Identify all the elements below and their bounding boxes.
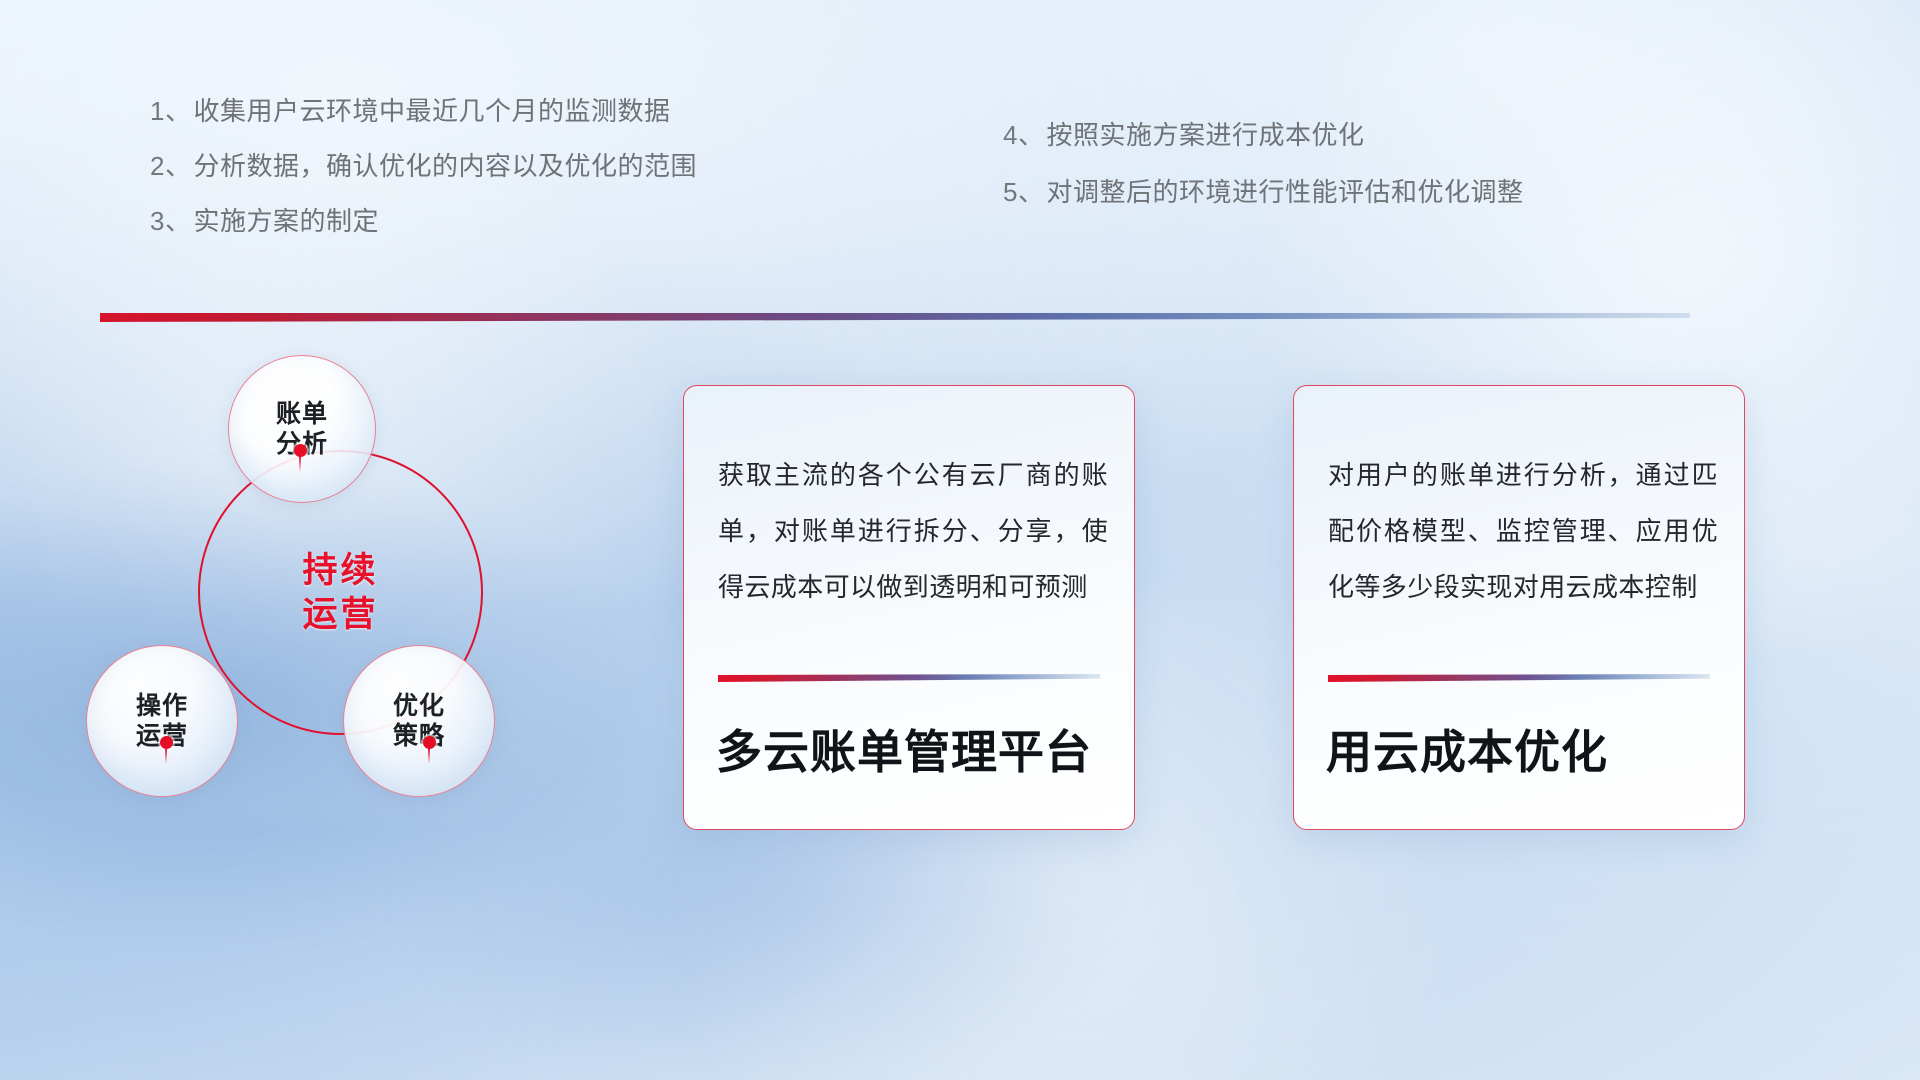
- feature-card-divider: [1328, 674, 1710, 682]
- feature-card-cost-optimization[interactable]: 对用户的账单进行分析，通过匹配价格模型、监控管理、应用优化等多少段实现对用云成本…: [1293, 385, 1745, 830]
- center-label-line1: 持续: [302, 549, 378, 593]
- cycle-node-bill-analysis[interactable]: 账单 分析: [228, 355, 376, 503]
- section-divider-bar: [100, 313, 1690, 322]
- list-item: 5、 对调整后的环境进行性能评估和优化调整: [1003, 179, 1523, 205]
- process-steps-section: 1、 收集用户云环境中最近几个月的监测数据 2、 分析数据，确认优化的内容以及优…: [0, 0, 1920, 260]
- cycle-node-tail: [428, 748, 430, 764]
- list-item: 3、 实施方案的制定: [150, 208, 697, 234]
- process-steps-left-column: 1、 收集用户云环境中最近几个月的监测数据 2、 分析数据，确认优化的内容以及优…: [150, 98, 697, 263]
- cycle-node-tail: [299, 456, 301, 472]
- list-item-number: 1、: [150, 98, 191, 124]
- cycle-diagram: 持续 运营 账单 分析 操作 运营 优化 策略: [78, 355, 548, 825]
- feature-card-divider: [718, 674, 1100, 682]
- cycle-node-label-line1: 账单: [276, 399, 328, 430]
- list-item-label: 按照实施方案进行成本优化: [1046, 122, 1364, 148]
- list-item-label: 对调整后的环境进行性能评估和优化调整: [1046, 179, 1523, 205]
- feature-card-title: 多云账单管理平台: [716, 716, 1092, 782]
- list-item-number: 5、: [1003, 179, 1044, 205]
- feature-card-title: 用云成本优化: [1326, 716, 1608, 782]
- feature-card-multicloud-billing[interactable]: 获取主流的各个公有云厂商的账单，对账单进行拆分、分享，使得云成本可以做到透明和可…: [683, 385, 1135, 830]
- feature-card-body: 对用户的账单进行分析，通过匹配价格模型、监控管理、应用优化等多少段实现对用云成本…: [1328, 448, 1718, 616]
- cycle-node-label-line1: 优化: [393, 691, 445, 722]
- list-item-label: 实施方案的制定: [193, 208, 379, 234]
- list-item: 1、 收集用户云环境中最近几个月的监测数据: [150, 98, 697, 124]
- list-item-label: 收集用户云环境中最近几个月的监测数据: [193, 98, 670, 124]
- cycle-node-label: 优化 策略: [393, 691, 445, 752]
- list-item-number: 2、: [150, 153, 191, 179]
- list-item: 4、 按照实施方案进行成本优化: [1003, 122, 1523, 148]
- cycle-node-label-line1: 操作: [136, 691, 188, 722]
- list-item-number: 3、: [150, 208, 191, 234]
- process-steps-right-column: 4、 按照实施方案进行成本优化 5、 对调整后的环境进行性能评估和优化调整: [1003, 122, 1523, 236]
- cycle-node-label-line2: 策略: [393, 721, 445, 752]
- cycle-node-optimization-strategy[interactable]: 优化 策略: [343, 645, 495, 797]
- list-item-label: 分析数据，确认优化的内容以及优化的范围: [193, 153, 697, 179]
- list-item-number: 4、: [1003, 122, 1044, 148]
- cycle-node-tail: [165, 748, 167, 764]
- list-item: 2、 分析数据，确认优化的内容以及优化的范围: [150, 153, 697, 179]
- section-divider: [100, 313, 1690, 322]
- center-label-line2: 运营: [302, 593, 378, 637]
- cycle-node-operation[interactable]: 操作 运营: [86, 645, 238, 797]
- feature-card-body: 获取主流的各个公有云厂商的账单，对账单进行拆分、分享，使得云成本可以做到透明和可…: [718, 448, 1108, 616]
